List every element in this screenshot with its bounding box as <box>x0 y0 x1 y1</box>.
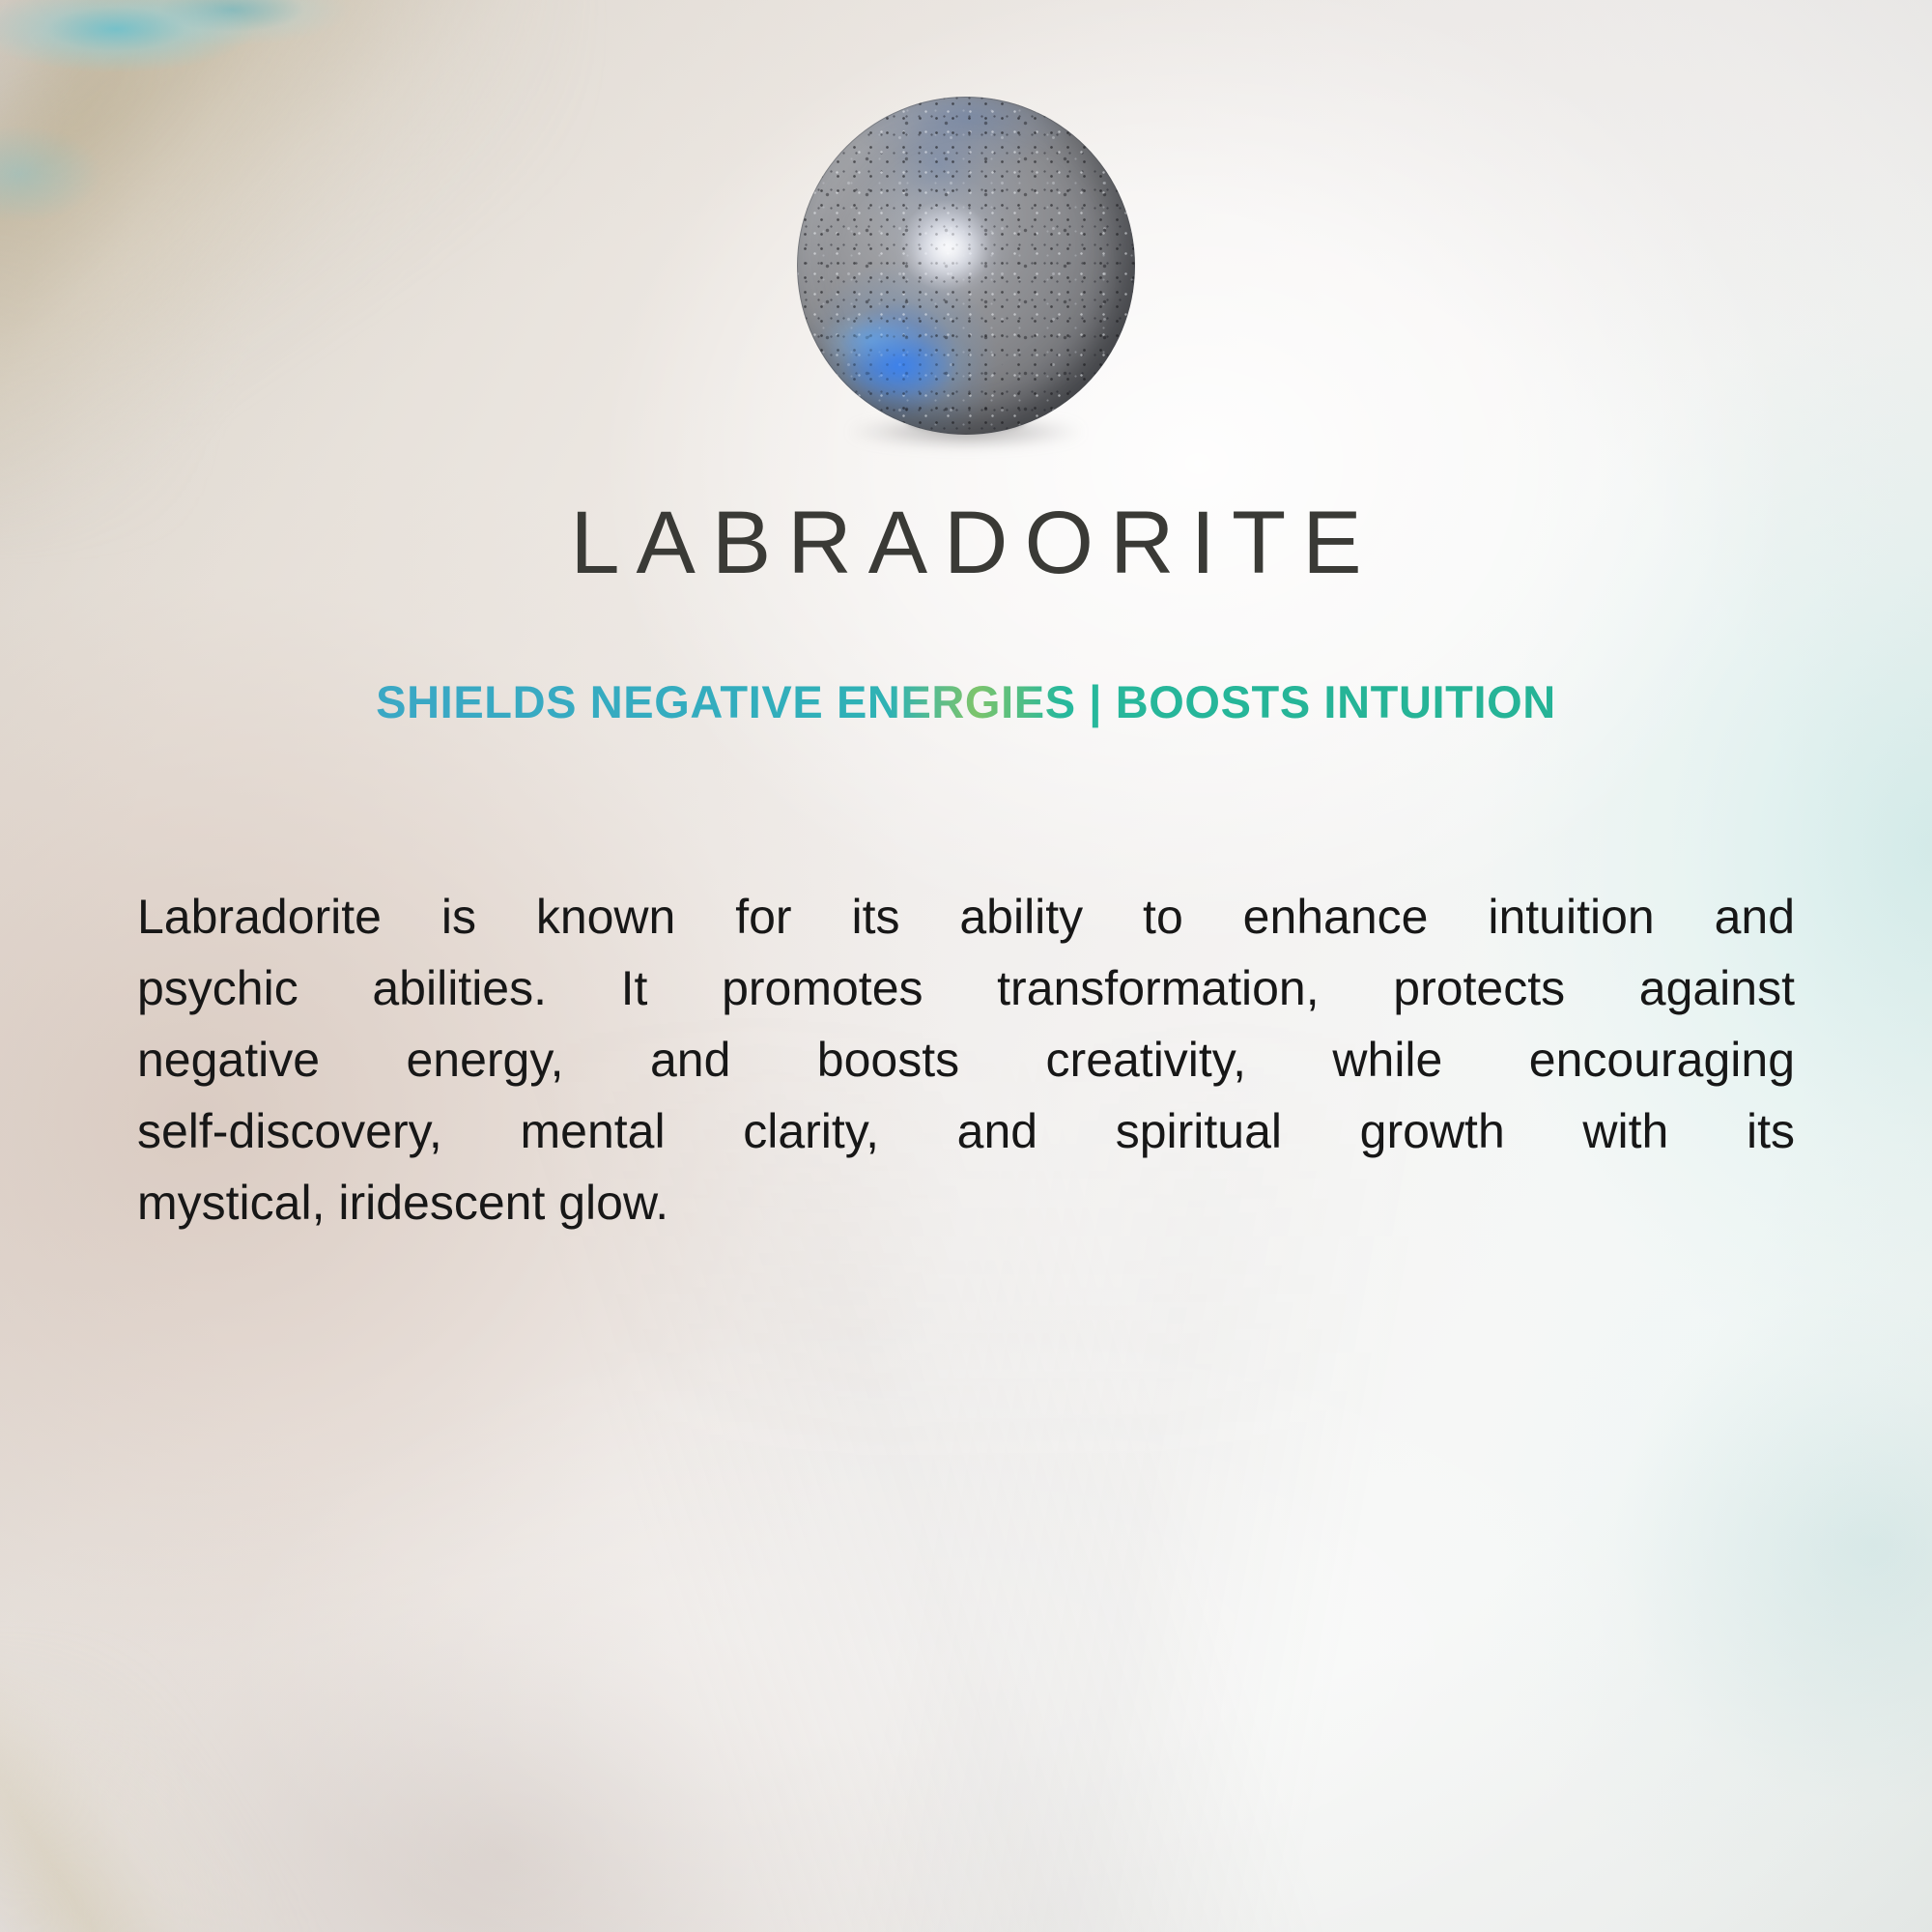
description-line: negative energy, and boosts creativity, … <box>137 1024 1795 1095</box>
description-line: Labradorite is known for its ability to … <box>137 881 1795 952</box>
page-title: LABRADORITE <box>0 498 1932 587</box>
sphere-rim <box>797 97 1135 435</box>
sphere-body <box>797 97 1135 435</box>
description-line: self-discovery, mental clarity, and spir… <box>137 1095 1795 1167</box>
description-line: mystical, iridescent glow. <box>137 1167 1795 1238</box>
tagline: SHIELDS NEGATIVE ENERGIES | BOOSTS INTUI… <box>0 676 1932 728</box>
description-line: psychic abilities. It promotes transform… <box>137 952 1795 1024</box>
description-paragraph: Labradorite is known for its ability to … <box>137 881 1795 1238</box>
crystal-info-card: LABRADORITE SHIELDS NEGATIVE ENERGIES | … <box>0 0 1932 1932</box>
labradorite-sphere-image <box>797 97 1135 435</box>
